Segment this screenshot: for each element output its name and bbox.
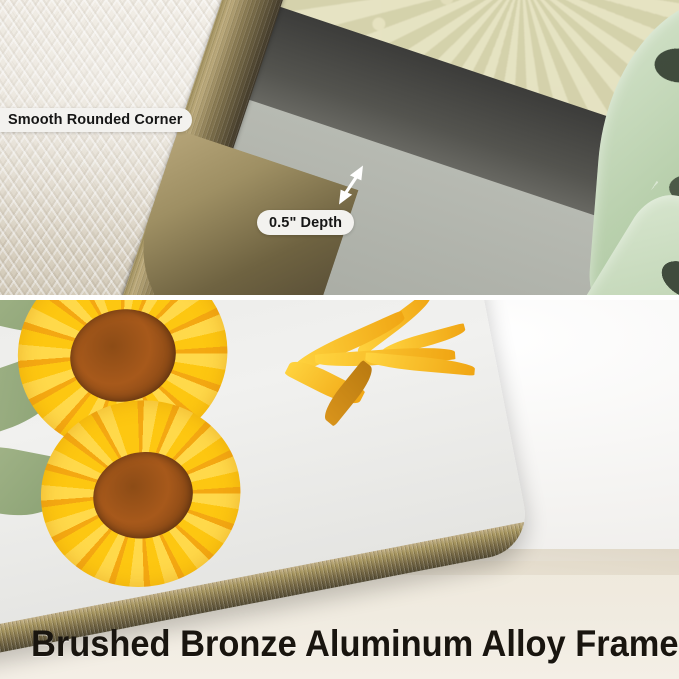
product-infographic: Smooth Rounded Corner 0.5" Depth bbox=[0, 0, 679, 679]
label-smooth-rounded-corner: Smooth Rounded Corner bbox=[0, 108, 192, 132]
label-depth: 0.5" Depth bbox=[257, 210, 354, 235]
panel-divider bbox=[0, 295, 679, 300]
headline-text: Brushed Bronze Aluminum Alloy Frame bbox=[31, 623, 679, 665]
top-panel: Smooth Rounded Corner 0.5" Depth bbox=[0, 0, 679, 295]
double-arrow-diagonal-icon bbox=[334, 165, 368, 205]
bottom-panel: 1.2" Frame Thickness Rust-Proof Moisture… bbox=[0, 300, 679, 679]
